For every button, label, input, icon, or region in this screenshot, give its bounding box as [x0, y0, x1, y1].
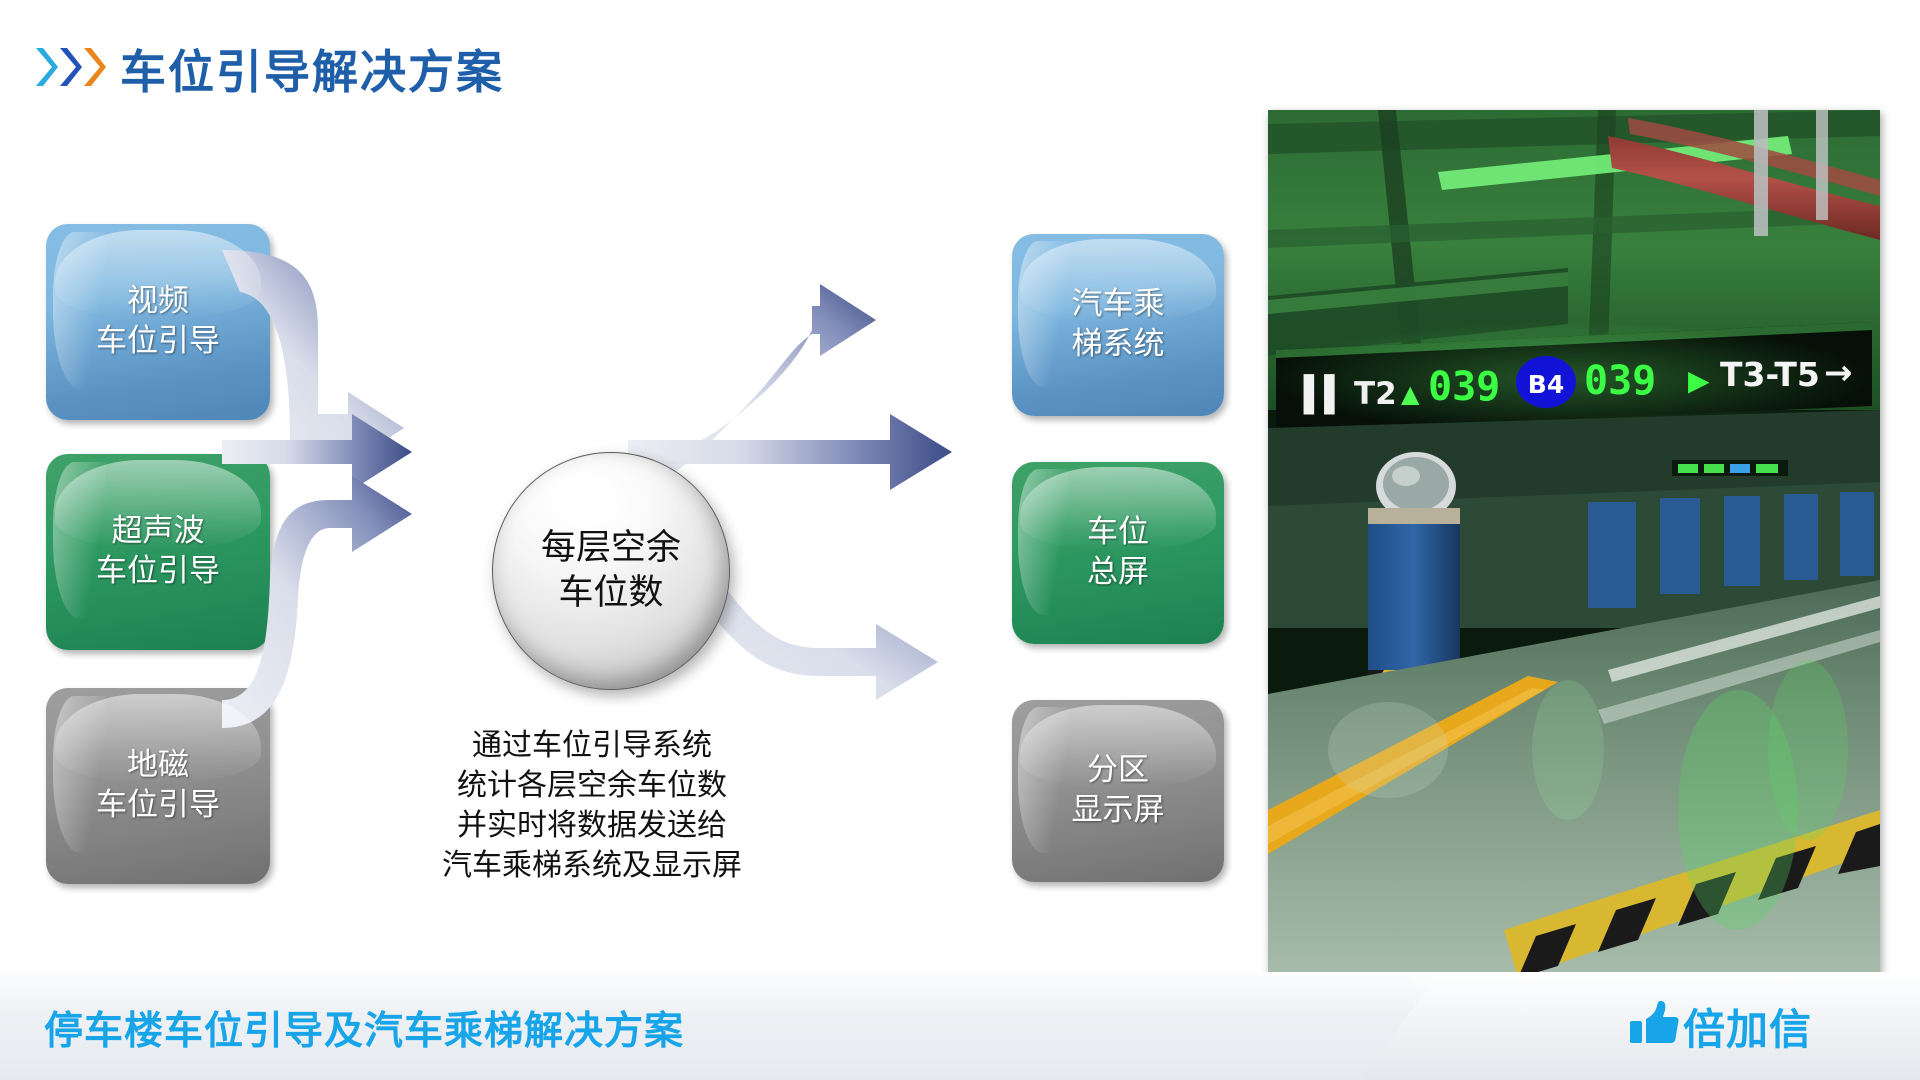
output-car-elevator-system-label: 汽车乘 梯系统	[1072, 285, 1165, 364]
output-total-parking-screen-label: 车位 总屏	[1087, 513, 1149, 592]
slide-root: 车位引导解决方案	[0, 0, 1920, 1080]
output-zone-display-screen-label: 分区 显示屏	[1072, 751, 1165, 830]
input-ultrasonic-guidance-label: 超声波 车位引导	[96, 512, 220, 591]
hub-sphere: 每层空余 车位数	[492, 452, 730, 690]
input-video-guidance-label: 视频 车位引导	[96, 282, 220, 361]
input-geomagnetic-guidance-label: 地磁 车位引导	[96, 746, 220, 825]
hub-sphere-label: 每层空余 车位数	[541, 526, 681, 617]
flow-arrows	[0, 0, 1920, 1080]
arrow-in-geomagnetic	[222, 476, 412, 728]
